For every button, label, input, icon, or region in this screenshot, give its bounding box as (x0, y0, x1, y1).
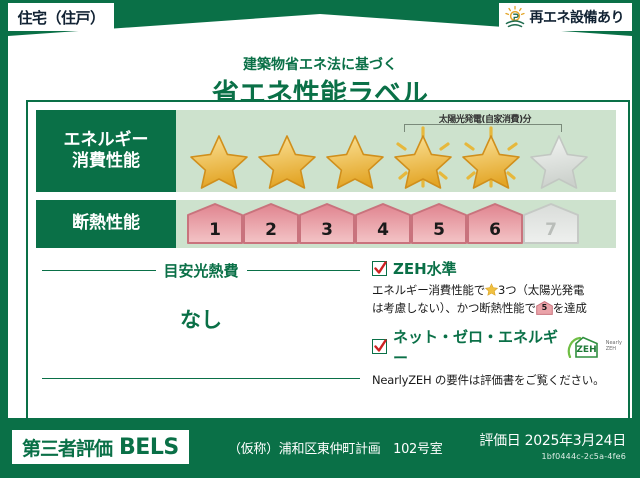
bels-logo-jp: 第三者評価 (22, 434, 112, 461)
net-zero-energy-description: NearlyZEH の要件は評価書をご覧ください。 (372, 372, 622, 390)
star-filled-solar (456, 124, 526, 190)
energy-rating-panel: 太陽光発電(自家消費)分 (176, 110, 616, 192)
insulation-level-number: 7 (522, 220, 580, 240)
insulation-house-active: 5 (410, 202, 468, 246)
zeh-standard-title: ZEH水準 (393, 258, 457, 279)
insulation-rating-panel: 1234567 (176, 200, 616, 248)
svg-text:ZEH: ZEH (576, 345, 596, 355)
energy-label-line2: 消費性能 (72, 151, 140, 172)
zeh-logo-caption: Nearly ZEH (606, 341, 622, 352)
zeh-standard-checkbox (372, 261, 387, 276)
star-filled (320, 124, 390, 190)
energy-performance-label: エネルギー 消費性能 (36, 110, 176, 192)
insulation-level-number: 2 (242, 220, 300, 240)
net-zero-energy-row: ネット・ゼロ・エネルギー ZEH Nearly ZEH (372, 326, 622, 368)
utility-cost-heading-text: 目安光熱費 (164, 260, 239, 281)
dwelling-type-tag: 住宅（住戸） (8, 3, 114, 31)
utility-cost-bottom-rule (42, 378, 360, 379)
star-rating (184, 124, 592, 190)
insulation-level-number: 4 (354, 220, 412, 240)
star-filled-solar (388, 124, 458, 190)
rule-right (247, 270, 361, 271)
insulation-performance-row: 断熱性能 1234567 (36, 200, 616, 248)
insulation-level-number: 6 (466, 220, 524, 240)
evaluation-id: 1bf0444c-2c5a-4fe6 (479, 452, 626, 461)
insulation-performance-label: 断熱性能 (36, 200, 176, 248)
energy-performance-row: エネルギー 消費性能 太陽光発電(自家消費)分 (36, 110, 616, 192)
insulation-house-active: 3 (298, 202, 356, 246)
insulation-level-number: 1 (186, 220, 244, 240)
renewable-equipment-tag: 再エネ設備あり (499, 3, 633, 31)
rule-left (42, 270, 156, 271)
zeh-desc-part-d: を達成 (553, 301, 587, 315)
zeh-desc-part-c: は考慮しない）、かつ断熱性能で (372, 301, 536, 315)
insulation-level-number: 3 (298, 220, 356, 240)
building-name: （仮称）浦和区東仲町計画 102号室 (228, 438, 442, 457)
bels-logo-en: BELS (119, 435, 179, 460)
bels-logo: 第三者評価 BELS (12, 430, 189, 464)
net-zero-energy-title: ネット・ゼロ・エネルギー (393, 326, 560, 368)
label-sheet: 建築物省エネ法に基づく 省エネ性能ラベル エネルギー 消費性能 太陽光発電(自家… (8, 14, 632, 418)
star-filled (184, 124, 254, 190)
insulation-house-active: 4 (354, 202, 412, 246)
zeh-standard-description: エネルギー消費性能で3つ（太陽光発電は考慮しない）、かつ断熱性能で5を達成 (372, 282, 622, 318)
zeh-desc-part-b: 3つ（太陽光発電 (498, 283, 584, 297)
inline-star-icon (485, 283, 498, 296)
zeh-logo-caption-line2: ZEH (606, 346, 616, 352)
utility-cost-heading: 目安光熱費 (42, 260, 360, 281)
zeh-section: ZEH水準 エネルギー消費性能で3つ（太陽光発電は考慮しない）、かつ断熱性能で5… (372, 258, 622, 397)
label-subtitle: 建築物省エネ法に基づく (8, 54, 632, 74)
star-filled (252, 124, 322, 190)
net-zero-energy-checkbox (372, 339, 387, 354)
footer-bar: 第三者評価 BELS （仮称）浦和区東仲町計画 102号室 評価日 2025年3… (0, 422, 640, 478)
inline-house-icon: 5 (536, 301, 553, 315)
zeh-standard-row: ZEH水準 (372, 258, 622, 279)
energy-label-line1: エネルギー (64, 130, 149, 151)
energy-label-root: 住宅（住戸） 再エネ設備あり (0, 0, 640, 478)
sun-icon (503, 5, 527, 29)
insulation-house-inactive: 7 (522, 202, 580, 246)
insulation-house-active: 1 (186, 202, 244, 246)
insulation-level-scale: 1234567 (186, 202, 578, 246)
renewable-equipment-label: 再エネ設備あり (530, 7, 625, 27)
insulation-house-active: 2 (242, 202, 300, 246)
evaluation-date: 評価日 2025年3月24日 (479, 430, 626, 450)
utility-cost-value: なし (42, 304, 360, 334)
inline-house-number: 5 (536, 302, 553, 314)
label-frame: エネルギー 消費性能 太陽光発電(自家消費)分 断熱性能 1234567 (26, 100, 630, 420)
insulation-label-text: 断熱性能 (72, 213, 140, 234)
evaluation-info: 評価日 2025年3月24日 1bf0444c-2c5a-4fe6 (479, 430, 626, 461)
insulation-house-active: 6 (466, 202, 524, 246)
insulation-level-number: 5 (410, 220, 468, 240)
star-empty (524, 124, 594, 190)
dwelling-type-label: 住宅（住戸） (17, 7, 104, 28)
zeh-logo-icon: ZEH (566, 336, 600, 358)
zeh-desc-part-a: エネルギー消費性能で (372, 283, 485, 297)
utility-cost-section: 目安光熱費 なし (42, 260, 360, 380)
